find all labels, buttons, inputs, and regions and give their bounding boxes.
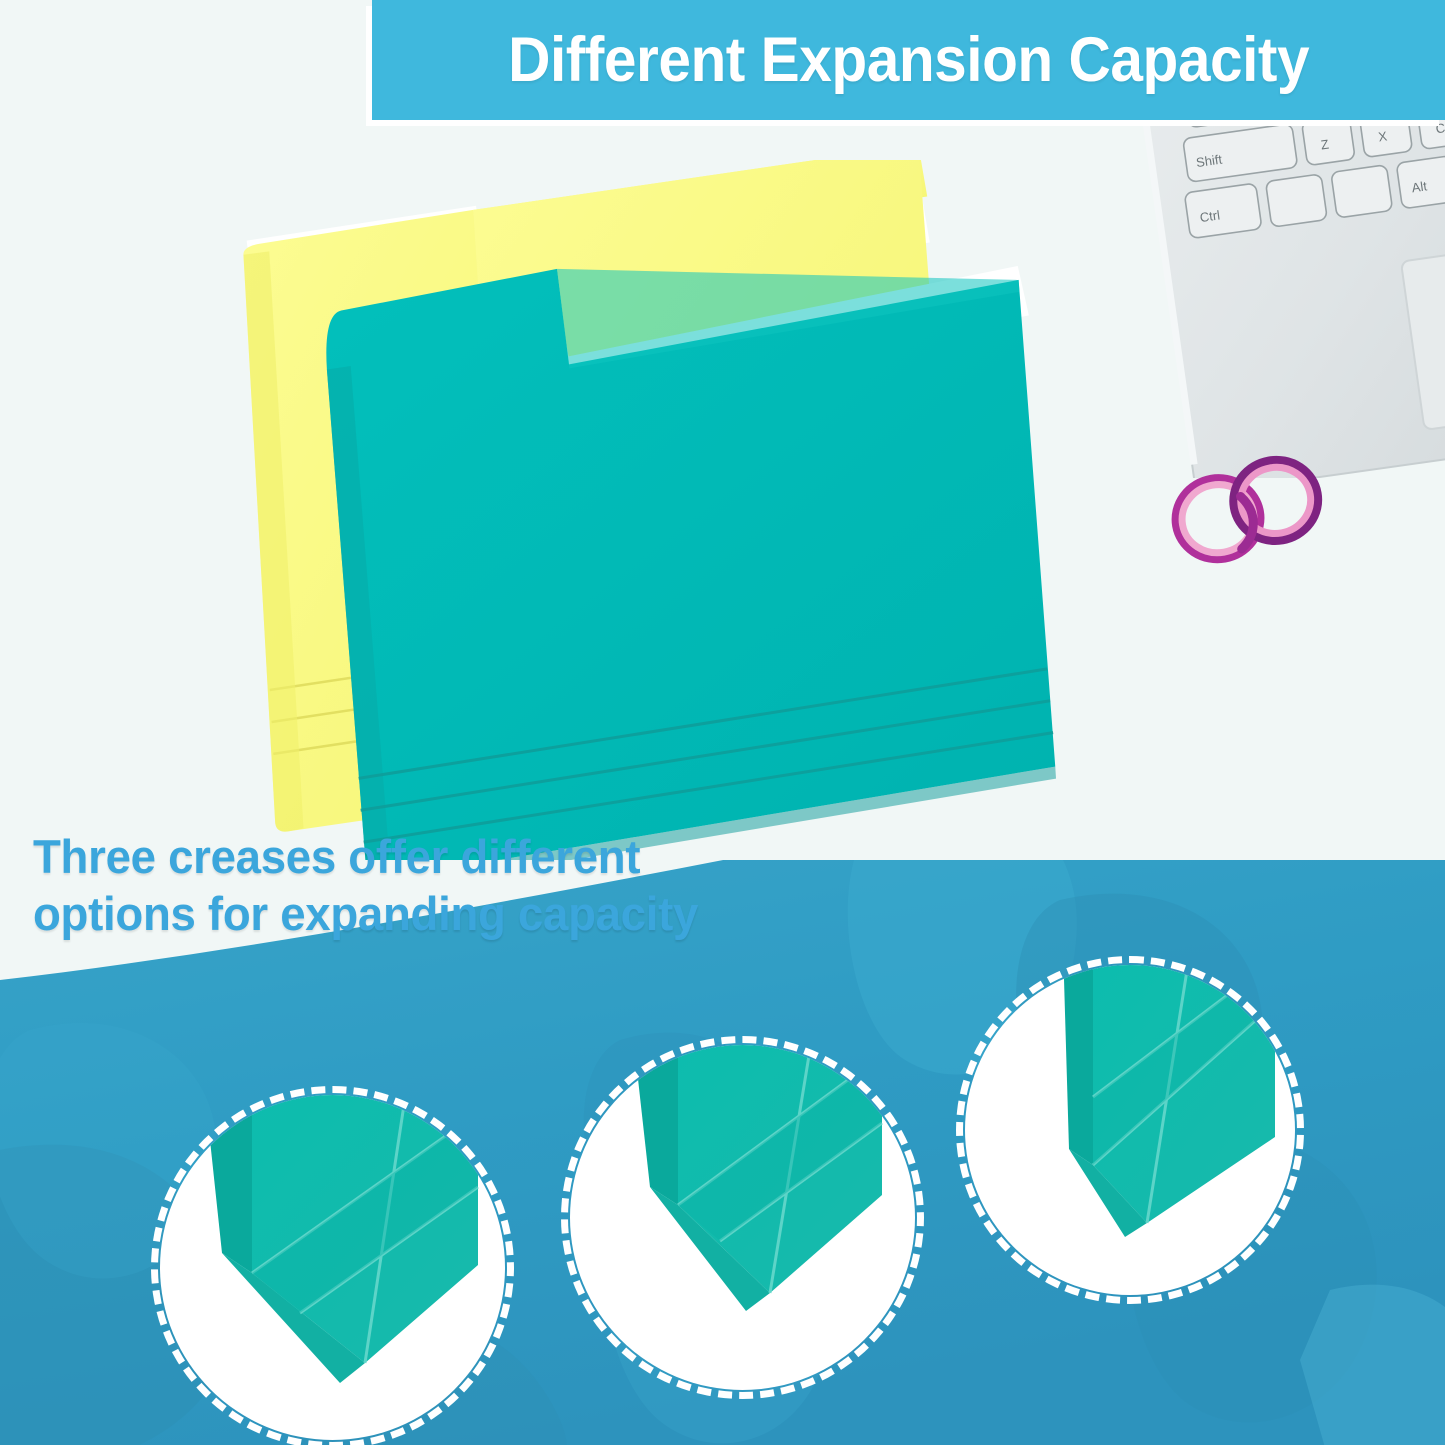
header-banner: Different Expansion Capacity <box>372 0 1445 120</box>
caption-text: Three creases offer different options fo… <box>33 828 863 943</box>
crease-detail-3-dashed-ring <box>956 956 1304 1304</box>
rubber-bands <box>1165 455 1335 565</box>
crease-detail-2 <box>570 1045 915 1390</box>
crease-detail-1 <box>160 1095 505 1440</box>
key-label-alt: Alt <box>1411 178 1428 195</box>
caption-line-1: Three creases offer different <box>33 828 838 885</box>
teal-file-folder <box>321 240 1062 860</box>
file-folders-svg <box>240 160 1080 860</box>
laptop-keyboard: Caps A Shift Z X C Ctrl Alt <box>1120 118 1445 478</box>
crease-detail-1-dashed-ring <box>151 1086 514 1445</box>
crease-detail-3 <box>965 965 1295 1295</box>
caption-line-2: options for expanding capacity <box>33 885 838 942</box>
key-label-ctrl: Ctrl <box>1199 207 1221 225</box>
rubber-bands-svg <box>1165 455 1335 565</box>
page-title: Different Expansion Capacity <box>508 29 1309 92</box>
key-label-c: C <box>1435 120 1445 136</box>
crease-detail-2-dashed-ring <box>561 1036 924 1399</box>
product-infographic: Different Expansion Capacity <box>0 0 1445 1445</box>
laptop-svg: Caps A Shift Z X C Ctrl Alt <box>1120 118 1445 478</box>
file-folders-group <box>240 160 1080 860</box>
